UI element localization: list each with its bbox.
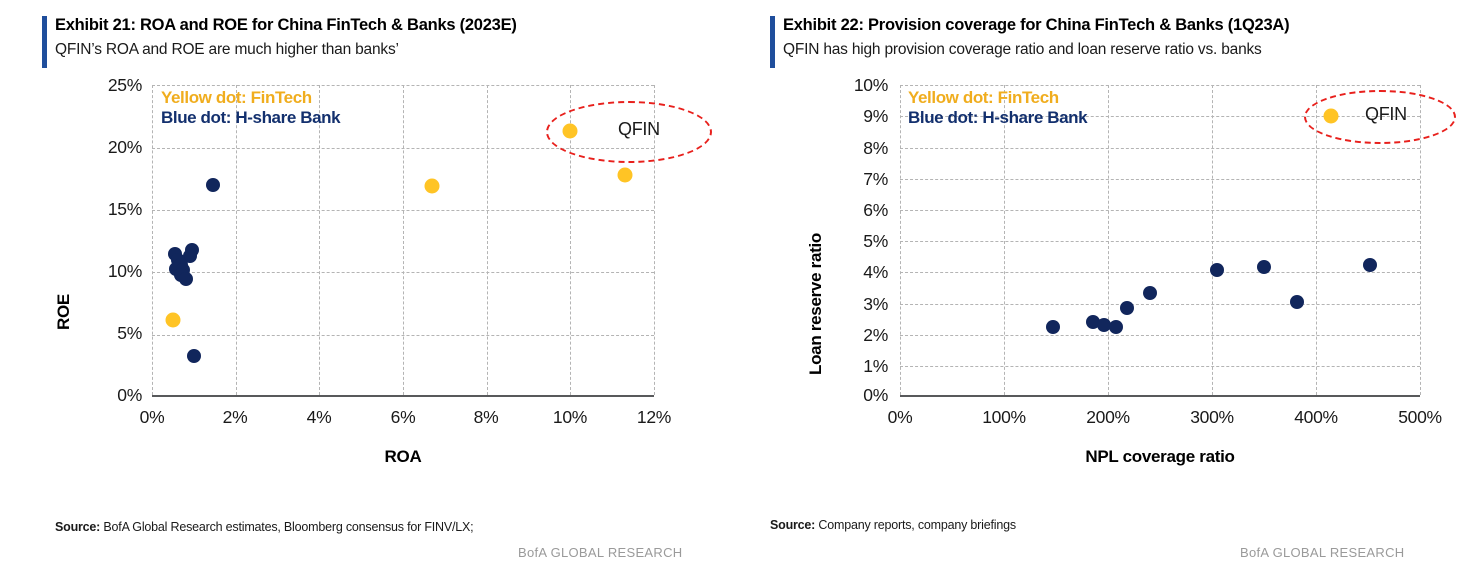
chart2-ytick-7: 7% xyxy=(818,169,888,190)
chart2-point-bank xyxy=(1109,320,1123,334)
chart1-gridline-h-15 xyxy=(152,210,654,211)
chart2-point-fintech-qfin xyxy=(1324,109,1339,124)
chart1-point-fintech xyxy=(617,167,632,182)
chart2-ytick-9: 9% xyxy=(818,106,888,127)
chart2-gridline-h-4 xyxy=(900,272,1420,273)
chart2-xtick-500: 500% xyxy=(1380,407,1460,428)
chart2-gridline-v-300 xyxy=(1212,85,1213,395)
exhibit-22-brand: BofA GLOBAL RESEARCH xyxy=(1240,545,1404,560)
chart1-ytick-5: 5% xyxy=(60,323,142,344)
chart2-ytick-6: 6% xyxy=(818,200,888,221)
exhibit-21-source-prefix: Source: xyxy=(55,520,100,534)
chart2-ytick-5: 5% xyxy=(818,231,888,252)
chart1-point-fintech-qfin xyxy=(563,124,578,139)
chart2-xtick-200: 200% xyxy=(1068,407,1148,428)
chart2-ytick-2: 2% xyxy=(818,325,888,346)
chart1-point-bank xyxy=(179,272,193,286)
exhibit-22-subtitle: QFIN has high provision coverage ratio a… xyxy=(783,38,1478,61)
chart1-xtick-4: 4% xyxy=(279,407,359,428)
chart1-xtick-2: 2% xyxy=(195,407,275,428)
chart1-legend-fintech: Yellow dot: FinTech xyxy=(161,88,340,108)
chart2-point-bank xyxy=(1046,320,1060,334)
chart1-xtick-0: 0% xyxy=(112,407,192,428)
chart2-point-bank xyxy=(1210,263,1224,277)
chart2-gridline-v-200 xyxy=(1108,85,1109,395)
exhibit-22-chart: Loan reserve ratio 10% 9% 8% 7% 6% 5% 4%… xyxy=(808,75,1478,495)
chart1-xtick-10: 10% xyxy=(530,407,610,428)
chart2-legend-fintech: Yellow dot: FinTech xyxy=(908,88,1087,108)
exhibit-21-chart: ROE 25% 20% 15% 10% 5% 0% xyxy=(42,75,742,495)
chart1-xtick-8: 8% xyxy=(446,407,526,428)
chart1-ytick-25: 25% xyxy=(60,75,142,96)
chart2-xtick-100: 100% xyxy=(964,407,1044,428)
chart1-ytick-15: 15% xyxy=(60,199,142,220)
chart2-gridline-h-3 xyxy=(900,304,1420,305)
chart1-x-axis-label: ROA xyxy=(152,447,654,467)
chart1-plot-area: Yellow dot: FinTech Blue dot: H-share Ba… xyxy=(152,85,654,397)
chart2-plot-area: Yellow dot: FinTech Blue dot: H-share Ba… xyxy=(900,85,1420,397)
exhibit-21-source-text: BofA Global Research estimates, Bloomber… xyxy=(103,520,473,534)
chart2-point-bank xyxy=(1363,258,1377,272)
chart2-gridline-h-8 xyxy=(900,148,1420,149)
exhibit-21-source: Source: BofA Global Research estimates, … xyxy=(55,520,473,534)
chart1-gridline-h-5 xyxy=(152,335,654,336)
chart1-point-bank xyxy=(187,349,201,363)
exhibit-21-brand: BofA GLOBAL RESEARCH xyxy=(518,545,682,560)
chart2-point-bank xyxy=(1120,301,1134,315)
exhibit-22-source-text: Company reports, company briefings xyxy=(818,518,1015,532)
exhibit-22-header: Exhibit 22: Provision coverage for China… xyxy=(770,14,1478,61)
chart2-xtick-300: 300% xyxy=(1172,407,1252,428)
chart2-gridline-v-500 xyxy=(1420,85,1421,395)
chart1-xtick-6: 6% xyxy=(363,407,443,428)
chart1-gridline-h-20 xyxy=(152,148,654,149)
chart2-legend: Yellow dot: FinTech Blue dot: H-share Ba… xyxy=(908,88,1087,128)
chart1-legend: Yellow dot: FinTech Blue dot: H-share Ba… xyxy=(161,88,340,128)
chart2-gridline-h-7 xyxy=(900,179,1420,180)
chart1-ytick-10: 10% xyxy=(60,261,142,282)
chart2-qfin-callout-label: QFIN xyxy=(1365,104,1407,125)
chart2-ytick-10: 10% xyxy=(818,75,888,96)
chart2-point-bank xyxy=(1143,286,1157,300)
chart2-gridline-h-1 xyxy=(900,366,1420,367)
chart2-xtick-0: 0% xyxy=(860,407,940,428)
chart2-gridline-v-0 xyxy=(900,85,901,395)
accent-bar-icon xyxy=(770,16,775,68)
chart1-gridline-v-2 xyxy=(236,85,237,395)
chart2-ytick-0: 0% xyxy=(818,385,888,406)
chart2-ytick-8: 8% xyxy=(818,138,888,159)
chart2-xtick-400: 400% xyxy=(1276,407,1356,428)
chart2-gridline-h-10 xyxy=(900,85,1420,86)
chart2-ytick-4: 4% xyxy=(818,262,888,283)
chart1-xtick-12: 12% xyxy=(614,407,694,428)
exhibit-21-title: Exhibit 21: ROA and ROE for China FinTec… xyxy=(55,14,760,38)
chart1-legend-bank: Blue dot: H-share Bank xyxy=(161,108,340,128)
chart1-qfin-callout-label: QFIN xyxy=(618,119,660,140)
chart1-gridline-v-6 xyxy=(403,85,404,395)
chart2-point-bank xyxy=(1257,260,1271,274)
accent-bar-icon xyxy=(42,16,47,68)
chart2-gridline-h-5 xyxy=(900,241,1420,242)
chart2-gridline-v-400 xyxy=(1316,85,1317,395)
chart2-legend-bank: Blue dot: H-share Bank xyxy=(908,108,1087,128)
chart2-x-axis-label: NPL coverage ratio xyxy=(900,447,1420,467)
chart2-point-bank xyxy=(1290,295,1304,309)
chart2-ytick-3: 3% xyxy=(818,294,888,315)
exhibits-container: Exhibit 21: ROA and ROE for China FinTec… xyxy=(0,0,1478,578)
chart1-ytick-20: 20% xyxy=(60,137,142,158)
chart1-gridline-v-8 xyxy=(487,85,488,395)
exhibit-21-panel: Exhibit 21: ROA and ROE for China FinTec… xyxy=(0,0,760,578)
chart1-ytick-0: 0% xyxy=(60,385,142,406)
chart1-point-bank xyxy=(206,178,220,192)
chart2-gridline-v-100 xyxy=(1004,85,1005,395)
exhibit-21-subtitle: QFIN’s ROA and ROE are much higher than … xyxy=(55,38,760,61)
chart1-point-fintech xyxy=(425,179,440,194)
exhibit-22-source-prefix: Source: xyxy=(770,518,815,532)
chart1-gridline-v-0 xyxy=(152,85,153,395)
chart1-point-fintech xyxy=(165,312,180,327)
chart2-gridline-h-6 xyxy=(900,210,1420,211)
chart1-gridline-v-4 xyxy=(319,85,320,395)
chart1-gridline-h-10 xyxy=(152,272,654,273)
exhibit-22-title: Exhibit 22: Provision coverage for China… xyxy=(783,14,1478,38)
exhibit-22-source: Source: Company reports, company briefin… xyxy=(770,518,1016,532)
chart2-gridline-h-2 xyxy=(900,335,1420,336)
chart1-gridline-h-25 xyxy=(152,85,654,86)
chart2-ytick-1: 1% xyxy=(818,356,888,377)
exhibit-22-panel: Exhibit 22: Provision coverage for China… xyxy=(760,0,1478,578)
exhibit-21-header: Exhibit 21: ROA and ROE for China FinTec… xyxy=(42,14,760,61)
